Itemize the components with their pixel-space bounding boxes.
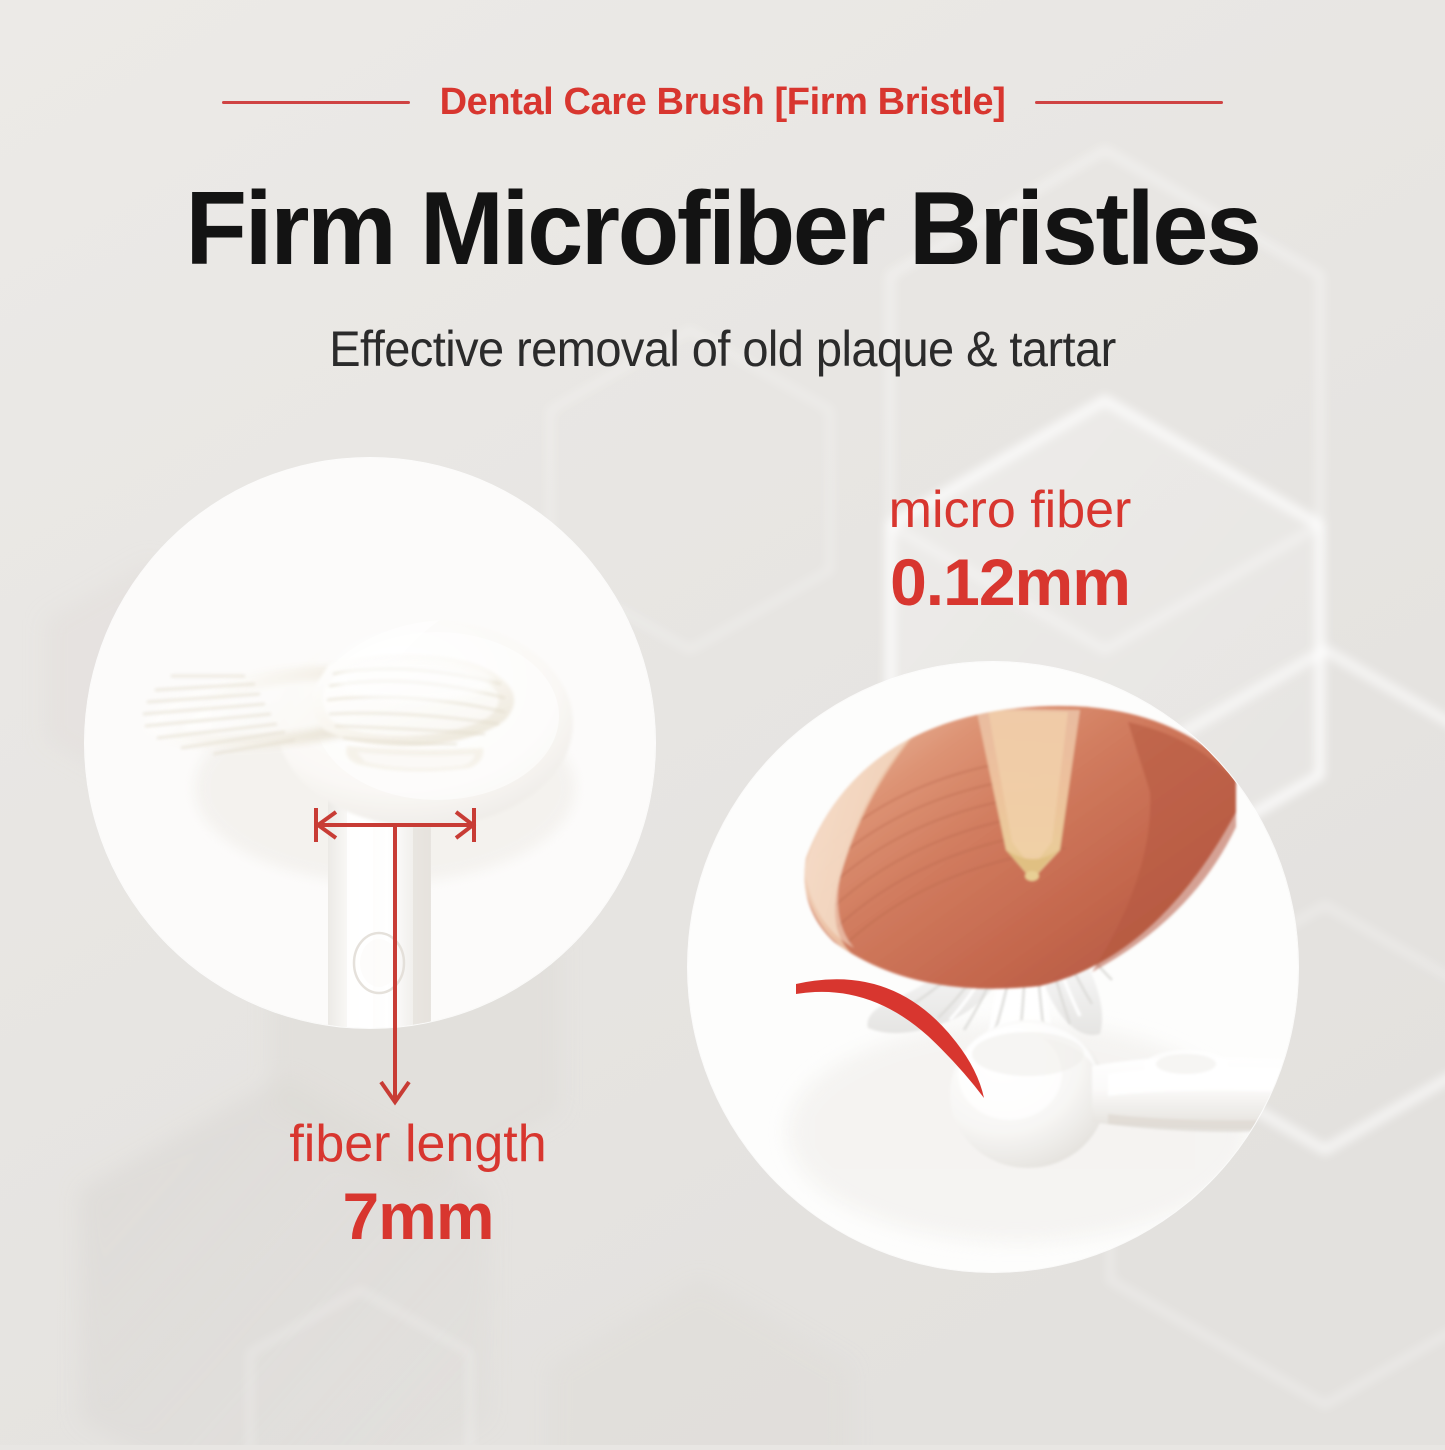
page-subtitle: Effective removal of old plaque & tartar — [43, 320, 1401, 378]
finger-press-photo — [688, 662, 1298, 1272]
brush-head-photo — [85, 458, 655, 1028]
micro-fiber-annotation: micro fiber 0.12mm — [820, 482, 1200, 621]
micro-fiber-value: 0.12mm — [820, 545, 1200, 621]
brush-head-illustration — [85, 458, 655, 1028]
eyebrow-header: Dental Care Brush [Firm Bristle] — [0, 76, 1445, 128]
fiber-length-value: 7mm — [228, 1179, 608, 1255]
eyebrow-title: Dental Care Brush [Firm Bristle] — [440, 81, 1006, 124]
fiber-length-label: fiber length — [228, 1116, 608, 1173]
eyebrow-rule-left — [222, 101, 410, 104]
eyebrow-rule-right — [1035, 101, 1223, 104]
page-title: Firm Microfiber Bristles — [22, 174, 1424, 284]
fiber-length-annotation: fiber length 7mm — [228, 1116, 608, 1255]
micro-fiber-label: micro fiber — [820, 482, 1200, 539]
finger-press-illustration — [688, 662, 1298, 1272]
